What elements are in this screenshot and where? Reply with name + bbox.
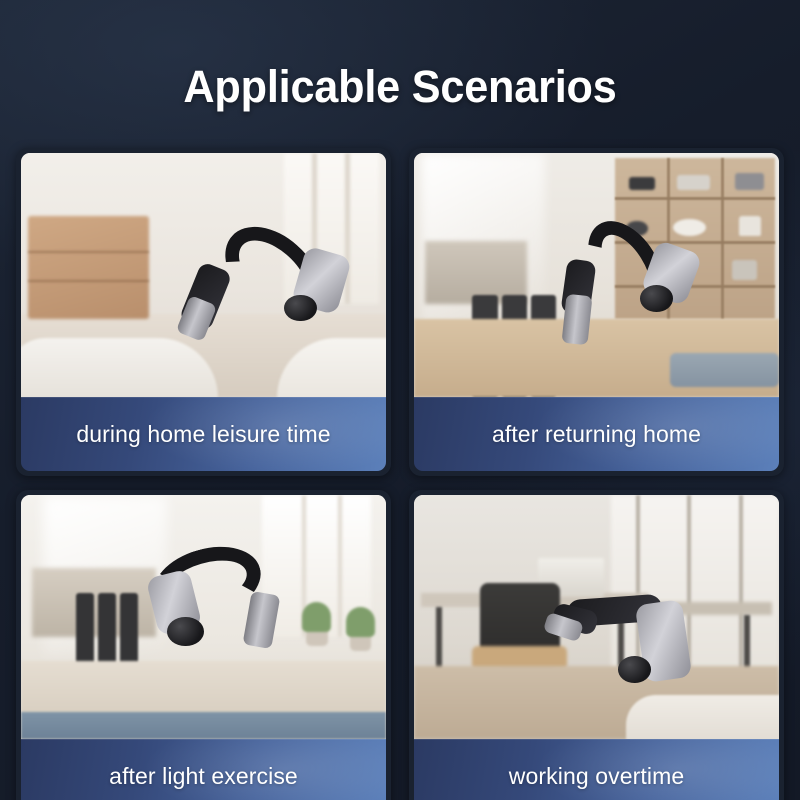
scenario-photo-working-overtime (414, 495, 779, 739)
scenario-card-returning-home[interactable]: after returning home (409, 148, 784, 476)
page-title: Applicable Scenarios (31, 0, 768, 109)
caption-text: after light exercise (109, 763, 298, 790)
scenario-card-home-leisure[interactable]: during home leisure time (16, 148, 391, 476)
scenario-photo-light-exercise (21, 495, 386, 739)
caption-text: working overtime (509, 763, 684, 790)
scenario-grid: during home leisure time (16, 148, 784, 800)
caption-text: during home leisure time (76, 421, 330, 448)
scenario-caption-returning-home: after returning home (414, 397, 779, 471)
scenario-photo-returning-home (414, 153, 779, 397)
scenario-photo-home-leisure (21, 153, 386, 397)
scenario-caption-light-exercise: after light exercise (21, 739, 386, 800)
scenario-caption-home-leisure: during home leisure time (21, 397, 386, 471)
caption-text: after returning home (492, 421, 701, 448)
scenario-card-light-exercise[interactable]: after light exercise (16, 490, 391, 800)
applicable-scenarios-page: Applicable Scenarios (0, 0, 800, 800)
scenario-card-working-overtime[interactable]: working overtime (409, 490, 784, 800)
scenario-caption-working-overtime: working overtime (414, 739, 779, 800)
